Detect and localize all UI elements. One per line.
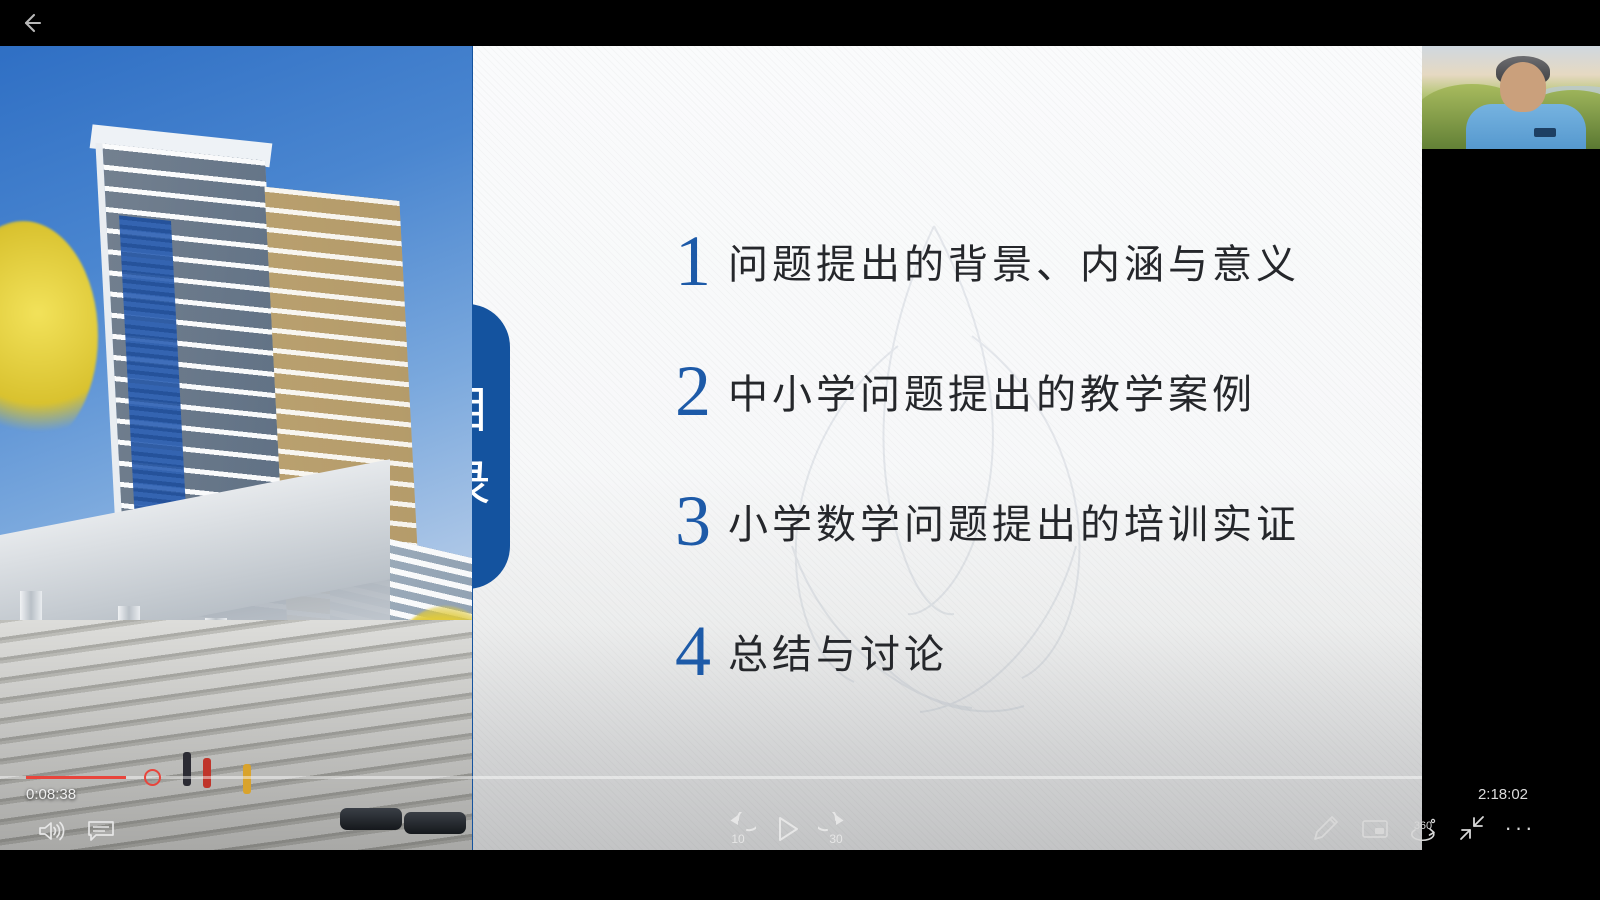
contents-badge-char-1: 目 (472, 385, 493, 435)
pedestrian (203, 758, 211, 788)
forward-30-icon: 30 (818, 812, 854, 848)
contents-badge-char-2: 录 (472, 459, 493, 509)
back-button[interactable] (10, 2, 52, 44)
contents-badge: 目 录 (472, 304, 510, 589)
agenda-item: 2 中小学问题提出的教学案例 (658, 326, 1378, 456)
agenda-item-label: 总结与讨论 (728, 622, 948, 680)
subtitle-button[interactable] (86, 816, 116, 846)
volume-button[interactable] (34, 814, 68, 848)
forward-seconds-label: 30 (829, 832, 843, 846)
agenda-item-number: 2 (658, 355, 728, 427)
slide-content-panel: 目 录 1 问题提出的背景、内涵与意义 2 中小学问题提出的教学案例 3 小学数… (472, 46, 1422, 850)
more-options-button[interactable]: ··· (1504, 812, 1536, 844)
seek-bar[interactable] (0, 776, 1422, 779)
agenda-item: 4 总结与讨论 (658, 586, 1378, 716)
play-button[interactable] (770, 812, 804, 846)
rewind-seconds-label: 10 (731, 832, 745, 846)
seek-handle[interactable] (144, 769, 161, 786)
exit-fullscreen-icon (1458, 814, 1486, 842)
presenter-face (1500, 62, 1546, 112)
view-360-button[interactable]: 360 (1408, 812, 1440, 844)
subtitle-icon (87, 819, 115, 843)
picture-in-picture-button[interactable] (1360, 814, 1390, 844)
exit-fullscreen-button[interactable] (1456, 812, 1488, 844)
agenda-item-label: 问题提出的背景、内涵与意义 (728, 232, 1300, 290)
360-label: 360 (1414, 820, 1432, 832)
agenda-list: 1 问题提出的背景、内涵与意义 2 中小学问题提出的教学案例 3 小学数学问题提… (658, 196, 1378, 716)
parked-car (340, 808, 402, 830)
video-stage[interactable]: 目 录 1 问题提出的背景、内涵与意义 2 中小学问题提出的教学案例 3 小学数… (0, 46, 1422, 850)
top-bar (0, 0, 1600, 46)
agenda-item-label: 小学数学问题提出的培训实证 (728, 492, 1300, 550)
parked-car (404, 812, 466, 834)
agenda-item: 3 小学数学问题提出的培训实证 (658, 456, 1378, 586)
annotate-button[interactable] (1310, 812, 1342, 844)
rewind-10-button[interactable]: 10 (720, 812, 756, 848)
presenter-badge (1534, 128, 1556, 137)
volume-on-icon (37, 819, 65, 843)
campus-building-photo (0, 46, 472, 850)
pedestrian (243, 764, 251, 794)
picture-in-picture-icon (1361, 818, 1389, 840)
rewind-10-icon: 10 (720, 812, 756, 848)
seek-bar-fill (26, 776, 126, 779)
agenda-item-number: 1 (658, 225, 728, 297)
control-bar (0, 850, 1600, 900)
pencil-icon (1312, 814, 1340, 842)
agenda-item-number: 4 (658, 615, 728, 687)
forward-30-button[interactable]: 30 (818, 812, 854, 848)
agenda-item: 1 问题提出的背景、内涵与意义 (658, 196, 1378, 326)
presenter-webcam[interactable] (1422, 46, 1600, 149)
pedestrian (183, 752, 191, 786)
total-time-label: 2:18:02 (1478, 786, 1528, 803)
agenda-item-number: 3 (658, 485, 728, 557)
video-player-root: 目 录 1 问题提出的背景、内涵与意义 2 中小学问题提出的教学案例 3 小学数… (0, 0, 1600, 900)
play-icon (772, 814, 802, 844)
agenda-item-label: 中小学问题提出的教学案例 (728, 362, 1256, 420)
back-arrow-icon (18, 10, 44, 36)
360-icon: 360 (1408, 812, 1440, 844)
current-time-label: 0:08:38 (26, 786, 76, 803)
